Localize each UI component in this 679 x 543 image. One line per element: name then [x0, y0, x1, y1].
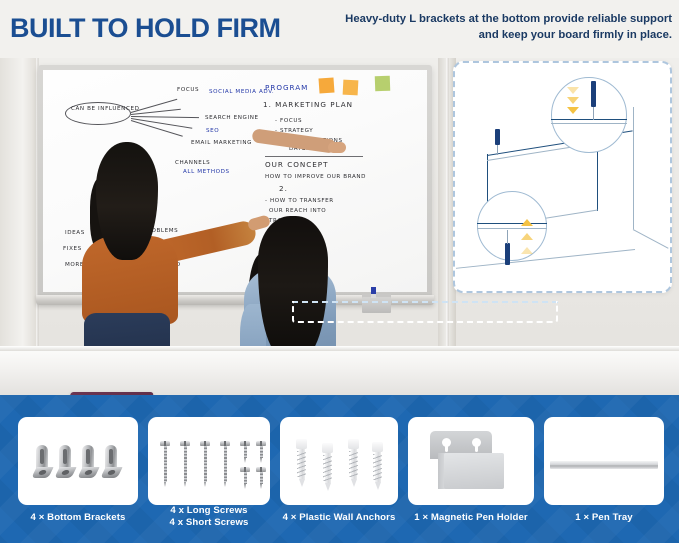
screwdriver-icon — [505, 243, 510, 265]
part-card-wall-anchors[interactable] — [280, 417, 398, 505]
whiteboard-note: EMAIL MARKETING — [191, 140, 252, 146]
part-label-bottom-brackets: 4 × Bottom Brackets — [8, 512, 148, 524]
arrow-down-icon — [567, 107, 579, 114]
whiteboard-note: PROGRAM — [265, 83, 308, 92]
whiteboard-note: IDEAS — [65, 230, 85, 236]
screwdriver-icon — [591, 81, 596, 107]
page-title: BUILT TO HOLD FIRM — [10, 13, 280, 44]
part-card-pen-holder[interactable] — [408, 417, 534, 505]
product-feature-image: BUILT TO HOLD FIRM Heavy-duty L brackets… — [0, 0, 679, 543]
whiteboard-note: OUR REACH INTO — [269, 208, 326, 214]
magnifier-bottom-rail-main — [477, 223, 547, 224]
part-label-short-screws: 4 x Short Screws — [140, 517, 278, 529]
sticky-note — [375, 76, 391, 92]
screwdriver-tip — [593, 107, 594, 120]
part-label-pen-holder: 1 × Magnetic Pen Holder — [400, 512, 542, 524]
whiteboard-note: HOW TO IMPROVE OUR BRAND — [265, 174, 366, 180]
part-card-bottom-brackets[interactable] — [18, 417, 138, 505]
whiteboard-note: - HOW TO TRANSFER — [265, 198, 334, 204]
whiteboard-note: CAN BE INFLUENCED — [71, 106, 140, 112]
bracket-icon — [80, 445, 96, 479]
part-label-wall-anchors: 4 × Plastic Wall Anchors — [272, 512, 406, 524]
whiteboard-note: FOCUS — [177, 87, 199, 93]
bracket-icon — [103, 445, 119, 479]
diagram-floor-left — [456, 249, 635, 269]
table-edge — [0, 346, 679, 351]
header-band: BUILT TO HOLD FIRM Heavy-duty L brackets… — [0, 0, 679, 58]
keyhole-slot — [472, 438, 481, 452]
whiteboard-underline — [265, 156, 363, 157]
wall-mounting-diagram — [453, 61, 672, 293]
part-card-pen-tray[interactable] — [544, 417, 664, 505]
whiteboard-note: SEARCH ENGINE — [205, 115, 259, 121]
whiteboard-note: 1. MARKETING PLAN — [263, 100, 353, 109]
screwdriver-icon — [495, 129, 500, 145]
arrow-up-icon — [521, 247, 533, 254]
whiteboard-note: 2. — [279, 184, 288, 193]
sticky-note — [318, 77, 334, 93]
header-description: Heavy-duty L brackets at the bottom prov… — [330, 11, 672, 43]
keyhole-slot — [442, 438, 451, 452]
sticky-note — [343, 80, 359, 96]
part-label-long-screws: 4 x Long Screws — [140, 505, 278, 517]
wall-anchor-icon — [322, 443, 333, 491]
whiteboard-note: OUR CONCEPT — [265, 160, 329, 169]
whiteboard-note: FIXES — [63, 246, 82, 252]
wall-anchor-icon — [348, 439, 359, 487]
person-2-hair — [258, 216, 328, 356]
part-label-pen-tray: 1 × Pen Tray — [544, 512, 664, 524]
magnifier-top-rail-main — [551, 119, 627, 120]
whiteboard-note: CHANNELS — [175, 160, 210, 166]
part-card-screws[interactable] — [148, 417, 270, 505]
arrow-down-icon — [567, 87, 579, 94]
pen-holder-icon — [430, 431, 510, 493]
wall-panel-left — [0, 58, 38, 350]
included-parts-panel: 4 × Bottom Brackets — [0, 395, 679, 543]
whiteboard-arrow — [131, 116, 199, 118]
magnifier-top-rail — [551, 123, 627, 124]
whiteboard-note: SEO — [206, 128, 219, 134]
diagram-floor-right — [633, 229, 669, 249]
bracket-icon — [57, 445, 73, 479]
board-marker — [371, 287, 376, 298]
arrow-up-icon — [521, 219, 533, 226]
pen-tray-icon — [550, 461, 658, 469]
highlight-dashed-box — [292, 301, 558, 323]
screwdriver-tip — [507, 230, 508, 244]
magnifier-bottom — [477, 191, 547, 261]
wall-anchor-icon — [372, 442, 383, 490]
magnifier-top — [551, 77, 627, 153]
table-surface — [0, 348, 679, 395]
magnifier-bottom-rail — [477, 228, 547, 229]
wall-anchor-icon — [296, 439, 307, 487]
diagram-corner-vertical — [633, 107, 634, 229]
person-2-hand — [328, 142, 346, 153]
bracket-icon — [34, 445, 50, 479]
arrow-up-icon — [521, 233, 533, 240]
whiteboard-note: - FOCUS — [275, 118, 302, 124]
screwdriver-tip — [497, 145, 498, 155]
whiteboard-note: ALL METHODS — [183, 169, 230, 175]
person-1-hair — [96, 142, 158, 260]
arrow-down-icon — [567, 97, 579, 104]
